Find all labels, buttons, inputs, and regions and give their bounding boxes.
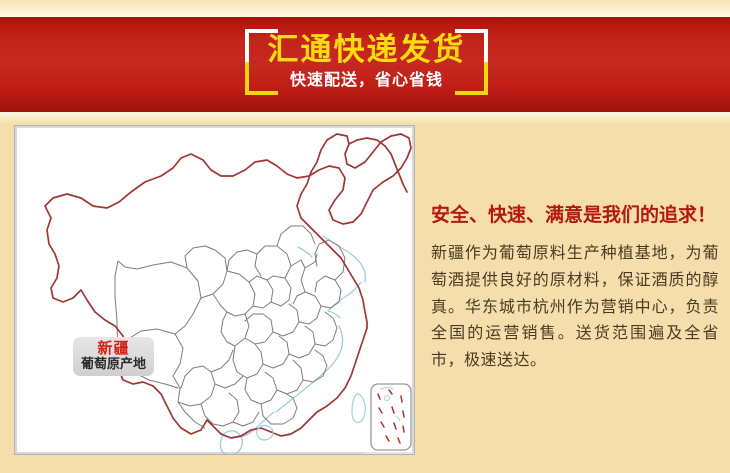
banner-subtitle: 快速配送，省心省钱: [290, 72, 443, 90]
promo-copy-block: 安全、快速、满意是我们的追求！ 新疆作为葡萄原料生产种植基地，为葡萄酒提供良好的…: [431, 205, 719, 375]
banner-top-trim: [0, 0, 730, 14]
banner-bottom-trim: [0, 112, 730, 125]
promo-copy-heading: 安全、快速、满意是我们的追求！: [431, 205, 719, 228]
delivery-promo-page: 汇通快递发货 快速配送，省心省钱: [0, 0, 730, 473]
national-border-east: [297, 172, 367, 328]
national-border-west-south: [47, 218, 367, 438]
south-china-sea-inset-box: [371, 384, 411, 450]
banner-title: 汇通快递发货: [268, 34, 466, 67]
banner-text-group: 汇通快递发货 快速配送，省心省钱: [245, 29, 488, 95]
map-label-xinjiang-role: 葡萄原产地: [81, 357, 146, 372]
promo-copy-body: 新疆作为葡萄原料生产种植基地，为葡萄酒提供良好的原材料，保证酒质的醇真。华东城市…: [431, 241, 719, 375]
national-border-north: [45, 134, 411, 224]
map-label-xinjiang: 新疆 葡萄原产地: [73, 337, 154, 376]
map-label-hangzhou: 杭州 营销中心: [360, 452, 415, 455]
china-map-svg: [15, 126, 414, 454]
taiwan-outline: [352, 394, 365, 423]
map-label-xinjiang-city: 新疆: [81, 340, 146, 357]
china-map-panel: 新疆 葡萄原产地 杭州 营销中心: [14, 125, 415, 455]
